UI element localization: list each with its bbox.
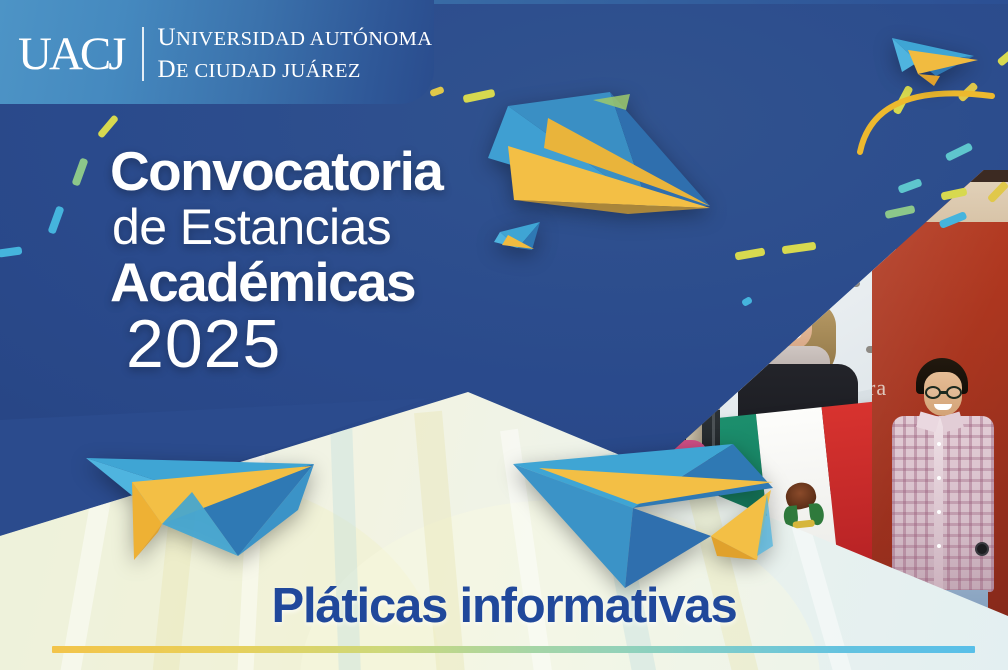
university-name-line2: de Ciudad Juárez — [158, 54, 433, 86]
headline-block: Convocatoria de Estancias Académicas 202… — [110, 144, 442, 380]
poster-canvas: UACJ Universidad Autónoma de Ciudad Juár… — [0, 0, 1008, 670]
photo4-button-1 — [937, 442, 941, 446]
caption-title: Pláticas informativas — [0, 578, 1008, 634]
plane-large-top-center-icon — [478, 88, 718, 233]
photo4-wall-text: ura — [872, 375, 887, 401]
photo4-glasses-bridge — [940, 391, 948, 394]
photo4-button-2 — [937, 476, 941, 480]
logo-divider — [142, 27, 144, 81]
plane-large-bottom-left-icon — [62, 436, 332, 586]
headline-year: 2025 — [126, 308, 442, 380]
headline-line-1: Convocatoria — [110, 144, 442, 198]
bottom-gradient-rule — [52, 646, 975, 653]
photo4-button-3 — [937, 510, 941, 514]
headline-line-2: de Estancias — [112, 200, 442, 254]
plane-small-center-icon — [488, 218, 544, 260]
photo4-button-4 — [937, 544, 941, 548]
logo-lockup: UACJ Universidad Autónoma de Ciudad Juár… — [18, 22, 432, 86]
photo4-glasses-left — [925, 386, 941, 399]
university-name: Universidad Autónoma de Ciudad Juárez — [158, 22, 433, 86]
headline-line-3: Académicas — [110, 255, 442, 309]
plane-large-bottom-center-icon — [505, 438, 805, 598]
university-name-line1: Universidad Autónoma — [158, 22, 433, 54]
photo4-wristwatch — [975, 542, 989, 556]
logo-panel: UACJ Universidad Autónoma de Ciudad Juár… — [0, 0, 434, 104]
plane-small-top-right-icon — [878, 28, 988, 98]
photo4-glasses-right — [946, 386, 962, 399]
uacj-wordmark: UACJ — [18, 31, 128, 78]
photo4-plaid-shirt — [892, 416, 994, 592]
